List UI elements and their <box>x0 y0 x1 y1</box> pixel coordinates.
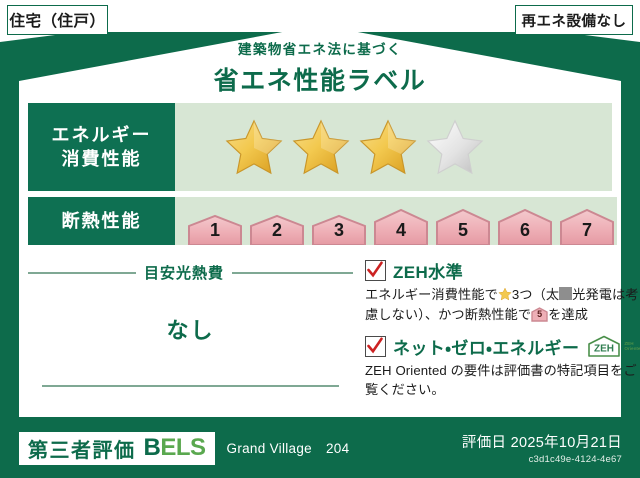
bels-certification-badge: 第三者評価 BELS <box>19 432 215 465</box>
inline-star-icon <box>498 287 512 301</box>
utility-cost-heading-row: 目安光熱費 <box>28 262 353 283</box>
insulation-grade-6-label: 6 <box>495 220 555 241</box>
star-rating <box>175 116 486 178</box>
energy-label-line1: エネルギー <box>52 123 152 147</box>
zeh-item-net-zero: ネット・ゼロ・エネルギー ZEH ZEH Oriented ZEH Orient… <box>365 334 640 401</box>
zeh-net-zero-description: ZEH Oriented の要件は評価書の特記項目をご覧ください。 <box>365 361 640 401</box>
renewable-equipment-tag-label: 再エネ設備なし <box>522 10 627 31</box>
lower-section: 目安光熱費 なし ZEH水準 エネルギー消費性能で3つ（太光発電は考慮しない）、… <box>28 258 612 409</box>
energy-consumption-row-body <box>175 103 612 191</box>
zeh-logo-sublabel: ZEH Oriented <box>624 341 640 352</box>
insulation-grade-3-label: 3 <box>309 220 369 241</box>
zeh-standard-description: エネルギー消費性能で3つ（太光発電は考慮しない）、かつ断熱性能で5を達成 <box>365 285 640 325</box>
zeh-section: ZEH水準 エネルギー消費性能で3つ（太光発電は考慮しない）、かつ断熱性能で5を… <box>353 258 640 409</box>
insulation-grade-3: 3 <box>309 214 369 245</box>
insulation-label-text: 断熱性能 <box>62 209 142 233</box>
zeh-house-logo-icon: ZEH <box>586 334 622 358</box>
renewable-equipment-tag: 再エネ設備なし <box>515 5 633 35</box>
star-icon-empty-4 <box>424 116 486 178</box>
insulation-row-body: 1 2 3 <box>175 197 617 245</box>
zeh-standard-checkbox[interactable] <box>365 260 386 281</box>
zeh-logo-sub-line1: ZEH <box>624 341 633 346</box>
evaluation-id: c3d1c49e-4124-4e67 <box>462 454 622 465</box>
zeh-net-zero-title: ネット・ゼロ・エネルギー <box>393 334 579 359</box>
star-icon-filled-1 <box>223 116 285 178</box>
evaluation-date-label: 評価日 <box>462 435 506 451</box>
zeh-logo-sub-line2: Oriented <box>624 346 640 351</box>
zeh-desc-suffix: を達成 <box>548 307 588 322</box>
insulation-grade-1-label: 1 <box>185 220 245 241</box>
energy-consumption-row-label: エネルギー 消費性能 <box>28 103 175 191</box>
insulation-grade-5: 5 <box>433 208 493 245</box>
energy-label-line2: 消費性能 <box>62 147 142 171</box>
insulation-grade-4: 4 <box>371 208 431 245</box>
check-icon <box>367 337 383 355</box>
utility-cost-bottom-rule <box>42 385 339 387</box>
insulation-row-label: 断熱性能 <box>28 197 175 245</box>
utility-cost-section: 目安光熱費 なし <box>28 258 353 409</box>
zeh-desc-prefix: エネルギー消費性能で <box>365 287 498 302</box>
project-name: Grand Village <box>227 441 312 456</box>
third-party-eval-label: 第三者評価 <box>28 434 136 463</box>
performance-rows: エネルギー 消費性能 <box>28 103 612 251</box>
bels-logo: BELS <box>144 434 206 462</box>
zeh-desc-mid: 3つ（太 <box>512 287 559 302</box>
housing-type-tag: 住宅（住戸） <box>7 5 108 35</box>
zeh-net-zero-head: ネット・ゼロ・エネルギー ZEH ZEH Oriented <box>365 334 640 359</box>
zeh-house-logo: ZEH ZEH Oriented <box>586 334 640 358</box>
insulation-performance-row: 断熱性能 <box>28 197 612 245</box>
zeh-standard-head: ZEH水準 <box>365 258 640 283</box>
utility-cost-value: なし <box>28 313 353 345</box>
zeh-standard-title: ZEH水準 <box>393 258 463 283</box>
bels-logo-rest: ELS <box>160 434 205 461</box>
zeh-item-standard: ZEH水準 エネルギー消費性能で3つ（太光発電は考慮しない）、かつ断熱性能で5を… <box>365 258 640 325</box>
insulation-grade-2-label: 2 <box>247 220 307 241</box>
insulation-grade-7-label: 7 <box>557 220 617 241</box>
evaluation-meta: 評価日 2025年10月21日 c3d1c49e-4124-4e67 <box>462 431 622 465</box>
bels-logo-first: B <box>144 434 161 461</box>
housing-type-tag-label: 住宅（住戸） <box>9 9 105 31</box>
energy-consumption-row: エネルギー 消費性能 <box>28 103 612 191</box>
unit-number: 204 <box>326 441 349 456</box>
label-footer: 第三者評価 BELS Grand Village204 評価日 2025年10月… <box>0 418 640 478</box>
utility-cost-heading: 目安光熱費 <box>144 262 224 283</box>
project-identity: Grand Village204 <box>227 441 350 456</box>
insulation-grade-4-label: 4 <box>371 220 431 241</box>
insulation-grade-2: 2 <box>247 214 307 245</box>
zeh-net-zero-checkbox[interactable] <box>365 336 386 357</box>
divider-right <box>232 272 353 274</box>
inline-grade-badge: 5 <box>531 307 548 322</box>
check-icon <box>367 261 383 279</box>
insulation-grade-5-label: 5 <box>433 220 493 241</box>
svg-text:ZEH: ZEH <box>594 344 614 355</box>
evaluation-date-value: 2025年10月21日 <box>511 435 622 451</box>
missing-glyph-box <box>559 287 572 300</box>
insulation-grade-6: 6 <box>495 208 555 245</box>
star-icon-filled-2 <box>290 116 352 178</box>
evaluation-date-row: 評価日 2025年10月21日 <box>462 431 622 452</box>
inline-grade-value: 5 <box>531 308 548 322</box>
insulation-grade-1: 1 <box>185 214 245 245</box>
insulation-grade-scale: 1 2 3 <box>175 197 617 245</box>
divider-left <box>28 272 136 274</box>
energy-performance-label: 住宅（住戸） 再エネ設備なし 建築物省エネ法に基づく 省エネ性能ラベル エネルギ… <box>0 0 640 478</box>
star-icon-filled-3 <box>357 116 419 178</box>
insulation-grade-7: 7 <box>557 208 617 245</box>
